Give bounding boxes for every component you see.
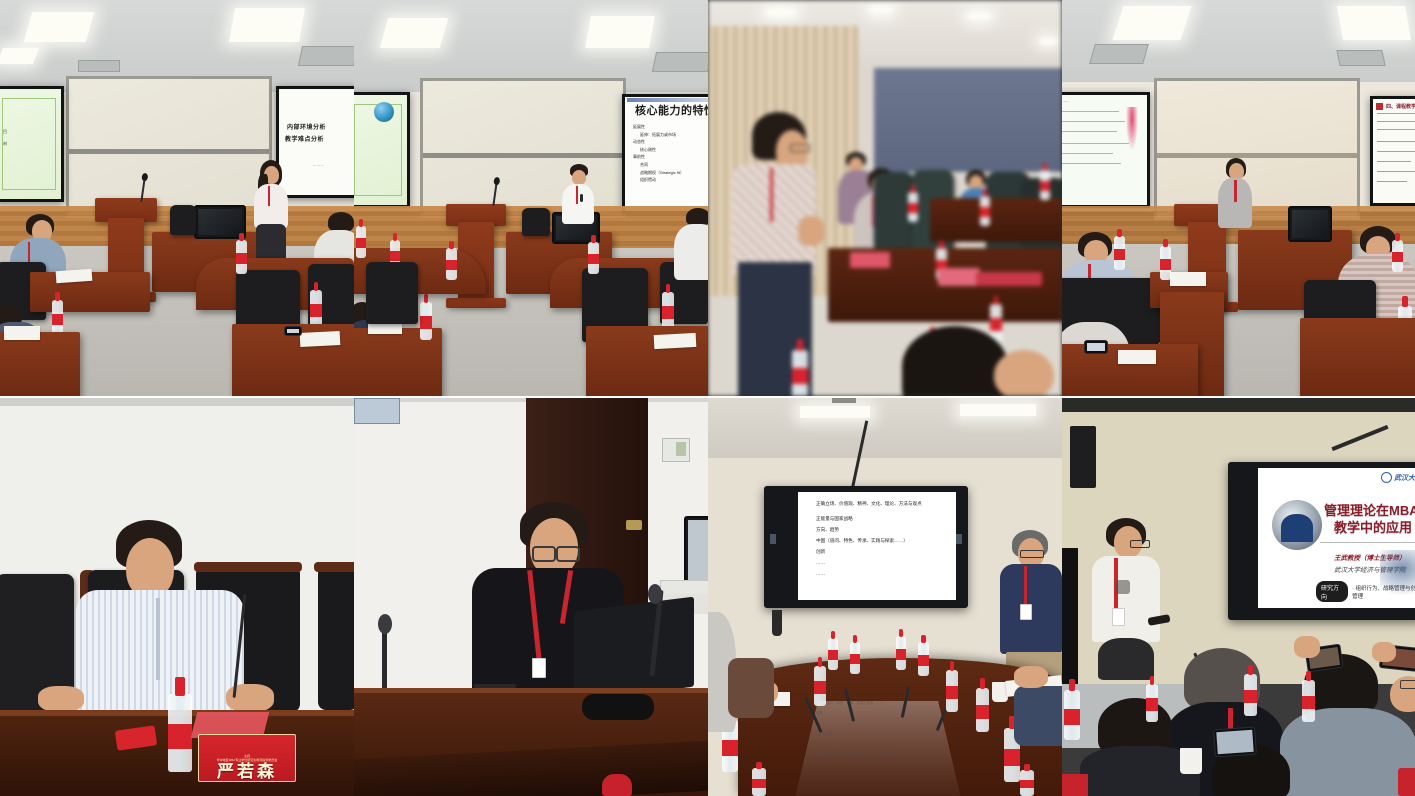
shirt-emblem <box>1116 580 1130 594</box>
front-desk <box>1300 318 1415 396</box>
water-bottle <box>310 290 322 328</box>
conference-table <box>930 198 1062 242</box>
chair-frame <box>314 562 354 572</box>
cable <box>772 610 782 636</box>
smartboard-button[interactable] <box>770 534 776 544</box>
collage-panel-2[interactable]: 核心能力的特性 延展性 延伸：拓展力或市场 动态性 核心刚性 事前性 合同 战略… <box>354 0 708 396</box>
bullet-6: 合同 <box>633 161 684 169</box>
water-bottle <box>168 694 192 772</box>
water-bottle <box>662 292 674 330</box>
attendee <box>744 658 788 718</box>
red-object <box>602 774 632 796</box>
desktop-monitor <box>684 516 708 586</box>
paper <box>300 331 341 347</box>
water-bottle <box>1244 674 1257 716</box>
nameplate-name: 严若森 <box>217 762 277 781</box>
water-bottle <box>1392 240 1403 272</box>
globe-icon <box>374 102 394 122</box>
podium-base <box>446 298 506 308</box>
ceiling-vent <box>652 52 708 72</box>
ceiling-light <box>380 18 449 48</box>
glasses-icon <box>1400 680 1415 689</box>
slide-bullets: 延展性 延伸：拓展力或市场 动态性 核心刚性 事前性 合同 战略期权（Strat… <box>633 123 684 184</box>
slide-line-6: …… <box>804 557 952 568</box>
water-bottle <box>1160 246 1171 280</box>
slide-line-2: 教学难点分析 <box>285 137 324 144</box>
water-bottle <box>1302 680 1315 722</box>
glasses-icon <box>556 546 580 562</box>
speaker <box>732 112 822 396</box>
microphone-head <box>648 584 662 604</box>
attendee <box>1014 666 1062 736</box>
phone <box>1084 340 1108 354</box>
name-badge <box>532 658 546 678</box>
ceiling-fixture <box>832 398 856 403</box>
attendee <box>1080 698 1200 796</box>
ceiling-edge <box>1062 398 1415 412</box>
water-bottle <box>588 242 599 274</box>
phone <box>284 326 302 336</box>
notebook <box>56 269 93 283</box>
water-bottle <box>980 196 990 226</box>
ceiling-light <box>966 12 992 20</box>
red-booklet <box>1062 774 1088 796</box>
water-bottle <box>236 240 247 274</box>
bullet-7: 战略期权（Strategic fit） <box>633 169 684 177</box>
water-bottle <box>850 642 860 674</box>
water-bottle <box>918 642 929 676</box>
smartphone[interactable] <box>1213 727 1257 758</box>
ceiling-light <box>764 8 798 17</box>
water-bottle <box>420 302 432 340</box>
university-banner-logo: 武汉大学 <box>1381 472 1415 483</box>
chair <box>522 208 550 236</box>
red-booklet <box>1398 768 1415 796</box>
glasses-icon <box>790 144 810 152</box>
slide-line-7: …… <box>804 568 952 579</box>
ceiling-light <box>0 48 39 64</box>
paper <box>1170 272 1206 286</box>
paper <box>654 333 697 349</box>
collage-panel-4[interactable]: ········· 四、课程教学设计 <box>1062 0 1415 396</box>
projection-screen-main: 核心能力的特性 延展性 延伸：拓展力或市场 动态性 核心刚性 事前性 合同 战略… <box>622 94 708 214</box>
slide-line-2: 正能量与国家战略 <box>804 513 952 524</box>
nameplate: 主持 华中地区MBA专业学位研究生教育指导委员会 严若森 <box>198 734 296 782</box>
slide-line-5: 创新 <box>804 546 952 557</box>
slide-line-1: 正确立场、价值观、精神、文化、理论、方法与观点 <box>804 498 952 509</box>
ceiling-light <box>800 406 870 418</box>
ceiling-light <box>24 12 95 42</box>
collage-panel-6[interactable] <box>354 398 708 796</box>
name-badge <box>1112 608 1125 626</box>
water-bottle <box>792 350 808 396</box>
ceiling-light <box>585 16 655 48</box>
water-bottle <box>752 768 766 796</box>
gift-box <box>938 268 980 286</box>
ceiling-vent <box>1336 50 1385 66</box>
chair <box>170 205 196 235</box>
decor-tassel <box>1125 107 1139 155</box>
projection-screen-right: 四、课程教学设计 <box>1370 96 1415 206</box>
flat-tv: 武汉大学 管理理论在MBA 教学中的应用 王武教授（博士生导师） 武汉大学经济与… <box>1228 462 1415 620</box>
ceiling-light <box>1038 38 1058 45</box>
slide-line-4: 中国（道问、特色、传承、实践与探索……） <box>804 535 952 546</box>
water-bottle <box>1040 170 1050 200</box>
wall-speaker <box>1070 426 1096 488</box>
gift-box <box>976 272 1042 286</box>
whiteboard <box>66 76 272 218</box>
ceiling-vent <box>298 46 354 66</box>
cable-coil <box>582 694 654 720</box>
ceiling-light <box>868 6 894 14</box>
presenter <box>1090 518 1172 678</box>
slide-title-line-2: 教学中的应用 <box>1334 519 1415 536</box>
slide-title-line-1: 管理理论在MBA <box>1324 502 1415 519</box>
ceiling-light <box>960 404 1036 416</box>
slide-line-3: 方向、趋势 <box>804 524 952 535</box>
desk-monitor <box>194 205 246 239</box>
ceiling-light <box>1337 6 1411 40</box>
glasses-icon <box>1020 550 1044 558</box>
water-bottle <box>976 688 989 732</box>
water-bottle <box>814 666 826 706</box>
glasses-icon <box>532 546 556 562</box>
presenter <box>1218 158 1254 244</box>
leather-chair <box>318 566 354 710</box>
slide-line-1: 内部环境分析 <box>287 125 326 132</box>
desk-monitor <box>1288 206 1332 242</box>
bullet-5: 事前性 <box>633 153 684 161</box>
water-bottle <box>1114 236 1125 270</box>
attendee <box>664 208 708 268</box>
shirt-placket <box>156 598 160 680</box>
water-bottle <box>908 192 918 222</box>
gift-box <box>850 252 890 268</box>
water-bottle <box>1064 690 1080 740</box>
bullet-2: 延伸：拓展力或市场 <box>633 131 684 139</box>
collage-panel-8[interactable]: 武汉大学 管理理论在MBA 教学中的应用 王武教授（博士生导师） 武汉大学经济与… <box>1062 398 1415 796</box>
attendee-desk <box>0 332 80 396</box>
wall-switch-indicator <box>676 442 686 456</box>
hand <box>1294 636 1320 658</box>
hand <box>1372 642 1396 662</box>
table-edge <box>354 688 708 693</box>
bullet-1: 延展性 <box>633 123 684 131</box>
attendee-foreground <box>994 350 1062 396</box>
microphone-head <box>378 614 392 634</box>
collage-panel-1[interactable]: 目 材 内部环境分析 教学难点分析 — — — <box>0 0 354 396</box>
bullet-4: 核心刚性 <box>633 146 684 154</box>
water-bottle <box>446 248 457 280</box>
smartboard-button[interactable] <box>956 534 962 544</box>
hand <box>38 686 84 712</box>
ceiling-vent <box>1089 44 1149 64</box>
paper <box>1118 350 1156 364</box>
laptop-screen <box>574 597 694 702</box>
wall-panel <box>874 68 1062 172</box>
slide-reflection-text: 中国（道问、特色、传承、实践与探索……） 创新 方向、趋势 正确立场、价值观、精… <box>816 698 942 794</box>
photo-collage: 目 材 内部环境分析 教学难点分析 — — — <box>0 0 1415 796</box>
ceiling-light <box>1112 6 1191 40</box>
smartboard: 正确立场、价值观、精神、文化、理论、方法与观点 正能量与国家战略 方向、趋势 中… <box>764 486 968 608</box>
name-badge <box>1020 604 1032 620</box>
paper-cup <box>1180 748 1202 774</box>
water-bottle <box>946 670 958 712</box>
collage-panel-7[interactable]: 正确立场、价值观、精神、文化、理论、方法与观点 正能量与国家战略 方向、趋势 中… <box>708 398 1062 796</box>
bullet-3: 动态性 <box>633 138 684 146</box>
glasses-icon <box>1130 540 1150 548</box>
university-crest <box>1272 500 1322 550</box>
paper <box>4 326 40 340</box>
slide-building-image <box>1380 550 1415 596</box>
presenter <box>998 530 1062 670</box>
wall-trim <box>0 398 354 406</box>
projection-screen-left: ········· <box>1062 92 1150 208</box>
whiteboard <box>1154 78 1360 220</box>
water-bottle <box>1020 770 1034 796</box>
water-bottle <box>896 636 906 670</box>
slide-tag: 研究方向 <box>1316 581 1348 602</box>
chair <box>366 262 418 324</box>
projection-screen-left: 目 材 <box>0 86 64 202</box>
slide-title: 核心能力的特性 <box>635 105 708 117</box>
collage-panel-5[interactable]: 主持 华中地区MBA专业学位研究生教育指导委员会 严若森 <box>0 398 354 796</box>
smartboard-screen: 正确立场、价值观、精神、文化、理论、方法与观点 正能量与国家战略 方向、趋势 中… <box>798 492 956 600</box>
water-bottle <box>828 638 838 670</box>
wall-sign <box>354 398 400 424</box>
bullet-8: 组织惯动 <box>633 176 684 184</box>
ceiling-light <box>229 8 305 42</box>
tv-screen: 武汉大学 管理理论在MBA 教学中的应用 王武教授（博士生导师） 武汉大学经济与… <box>1258 468 1415 608</box>
water-bottle <box>1146 684 1158 722</box>
collage-panel-3[interactable] <box>708 0 1062 396</box>
ceiling-vent <box>78 60 120 72</box>
water-bottle <box>356 226 366 258</box>
